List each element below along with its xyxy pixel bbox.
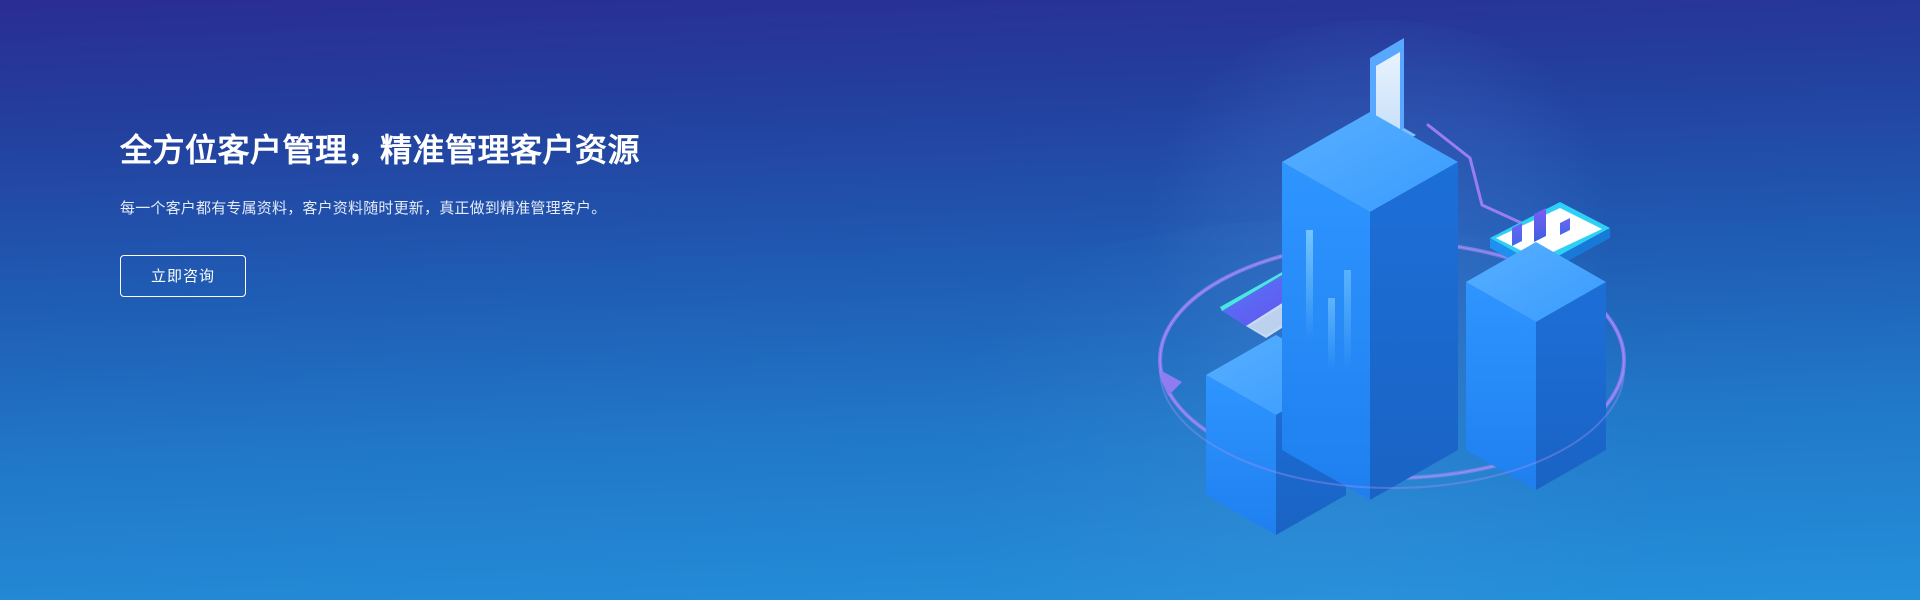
hero-banner: 全方位客户管理，精准管理客户资源 每一个客户都有专属资料，客户资料随时更新，真正…: [0, 0, 1920, 600]
hero-copy: 全方位客户管理，精准管理客户资源 每一个客户都有专属资料，客户资料随时更新，真正…: [120, 128, 740, 297]
consult-now-button[interactable]: 立即咨询: [120, 255, 246, 297]
hero-illustration: [1130, 30, 1650, 570]
hero-subtitle: 每一个客户都有专属资料，客户资料随时更新，真正做到精准管理客户。: [120, 196, 610, 221]
center-pedestal: [1282, 38, 1458, 500]
page-title: 全方位客户管理，精准管理客户资源: [120, 128, 740, 172]
right-pedestal: [1466, 202, 1610, 490]
